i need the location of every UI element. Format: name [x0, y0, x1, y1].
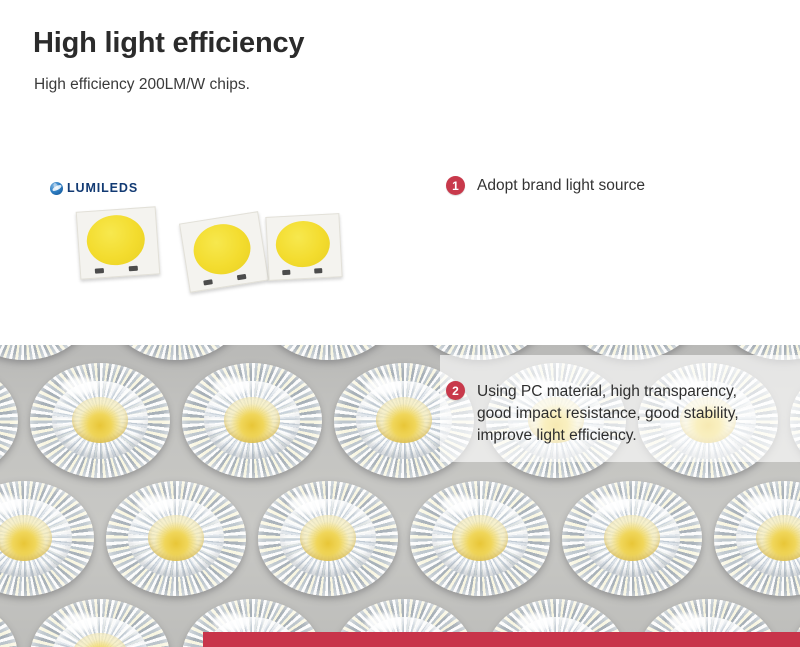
phosphor-disc: [275, 220, 331, 269]
pc-lens: [106, 481, 246, 596]
feature-item-2: 2 Using PC material, high transparency, …: [446, 381, 794, 447]
lens-rim: [0, 345, 94, 360]
lens-highlight: [61, 613, 97, 631]
pc-lens: [258, 481, 398, 596]
feature-badge-2: 2: [446, 381, 465, 400]
lens-highlight: [593, 495, 629, 513]
pc-lens: [714, 481, 800, 596]
feature-text-1: Adopt brand light source: [477, 176, 645, 195]
lens-rim: [0, 599, 18, 647]
bottom-accent-bar: [203, 632, 800, 647]
pc-lens: [410, 481, 550, 596]
led-chip: [265, 213, 342, 281]
brand-name: LUMILEDS: [67, 181, 138, 195]
pc-lens: [0, 363, 18, 478]
chip-pad: [129, 266, 138, 272]
page-title: High light efficiency: [33, 28, 304, 60]
pc-lens: [30, 599, 170, 647]
pc-lens: [30, 363, 170, 478]
lens-highlight: [365, 613, 401, 631]
lens-rim: [0, 363, 18, 478]
chip-pad: [95, 268, 104, 274]
lens-highlight: [365, 377, 401, 395]
lens-highlight: [213, 613, 249, 631]
phosphor-disc: [85, 213, 146, 267]
feature-item-1: 1 Adopt brand light source: [446, 176, 645, 195]
pc-lens: [182, 363, 322, 478]
led-chip: [179, 211, 269, 293]
led-chip: [76, 206, 161, 279]
feature-text-2-line1: Using PC material, high transparency,: [477, 383, 737, 400]
pc-lens: [0, 599, 18, 647]
lens-highlight: [213, 377, 249, 395]
pc-lens: [562, 481, 702, 596]
feature-text-2-line3: improve light efficiency.: [477, 427, 637, 444]
lumileds-swirl-icon: [50, 182, 63, 195]
brand-logo: LUMILEDS: [50, 181, 138, 195]
feature-badge-1: 1: [446, 176, 465, 195]
lens-rim: [258, 345, 398, 360]
chip-pad: [203, 279, 213, 285]
pc-lens: [258, 345, 398, 360]
lens-highlight: [289, 495, 325, 513]
chip-pad: [282, 270, 290, 275]
pc-lens: [0, 345, 94, 360]
lens-highlight: [745, 495, 781, 513]
lens-highlight: [137, 495, 173, 513]
lens-highlight: [517, 613, 553, 631]
feature-text-2: Using PC material, high transparency, go…: [477, 381, 739, 447]
led-chips-photo: [0, 195, 400, 305]
product-feature-page: High light efficiency High efficiency 20…: [0, 0, 800, 647]
chip-pad: [314, 268, 322, 273]
feature-text-2-line2: good impact resistance, good stability,: [477, 405, 739, 422]
phosphor-disc: [190, 220, 254, 278]
lens-highlight: [669, 613, 705, 631]
lens-highlight: [61, 377, 97, 395]
lens-highlight: [441, 495, 477, 513]
lens-rim: [106, 345, 246, 360]
chip-pad: [237, 274, 247, 280]
pc-lens: [106, 345, 246, 360]
page-subtitle: High efficiency 200LM/W chips.: [34, 76, 250, 94]
pc-lens: [0, 481, 94, 596]
